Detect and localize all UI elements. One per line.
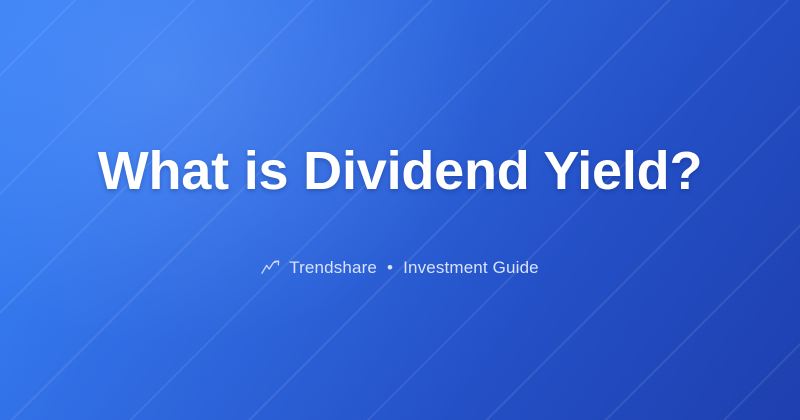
subtitle-row: Trendshare • Investment Guide: [261, 258, 539, 278]
content-category: Investment Guide: [403, 258, 539, 278]
brand-name: Trendshare: [289, 258, 377, 278]
card-content: What is Dividend Yield? Trendshare • Inv…: [0, 0, 800, 420]
page-title: What is Dividend Yield?: [98, 142, 702, 201]
separator-dot: •: [386, 258, 394, 278]
social-share-card: What is Dividend Yield? Trendshare • Inv…: [0, 0, 800, 420]
chart-line-up-icon: [261, 260, 280, 275]
